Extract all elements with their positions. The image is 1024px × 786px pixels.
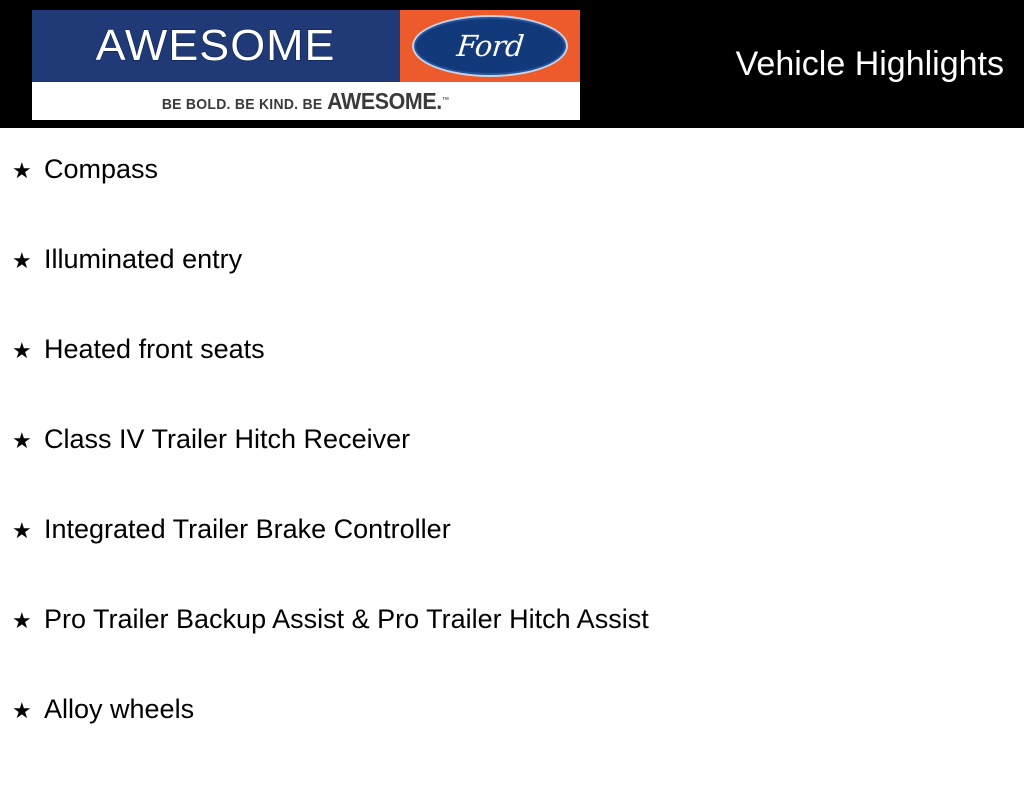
trademark-icon: ™	[442, 95, 450, 104]
star-icon: ★	[12, 340, 44, 362]
logo-top-band: AWESOME Ford	[32, 10, 580, 82]
star-icon: ★	[12, 250, 44, 272]
list-item-label: Compass	[44, 156, 158, 183]
list-item: ★ Pro Trailer Backup Assist & Pro Traile…	[0, 606, 1024, 696]
list-item-label: Integrated Trailer Brake Controller	[44, 516, 451, 543]
star-icon: ★	[12, 700, 44, 722]
logo-tagline-band: BE BOLD. BE KIND. BE AWESOME.™	[32, 82, 580, 120]
ford-oval-text: Ford	[455, 32, 524, 61]
vehicle-highlights-list: ★ Compass ★ Illuminated entry ★ Heated f…	[0, 128, 1024, 768]
list-item: ★ Heated front seats	[0, 336, 1024, 426]
list-item-label: Class IV Trailer Hitch Receiver	[44, 426, 410, 453]
star-icon: ★	[12, 430, 44, 452]
list-item: ★ Integrated Trailer Brake Controller	[0, 516, 1024, 606]
list-item: ★ Compass	[0, 156, 1024, 246]
page-title: Vehicle Highlights	[736, 0, 1004, 128]
logo-brand-panel: AWESOME	[32, 10, 400, 82]
tagline-lead-text: BE BOLD. BE KIND. BE	[162, 96, 323, 113]
tagline-brand-text: AWESOME.	[327, 88, 442, 114]
page-header: AWESOME Ford BE BOLD. BE KIND. BE AWESOM…	[0, 0, 1024, 128]
star-icon: ★	[12, 520, 44, 542]
list-item-label: Heated front seats	[44, 336, 265, 363]
star-icon: ★	[12, 160, 44, 182]
dealer-logo: AWESOME Ford BE BOLD. BE KIND. BE AWESOM…	[32, 10, 580, 120]
list-item: ★ Illuminated entry	[0, 246, 1024, 336]
list-item: ★ Alloy wheels	[0, 696, 1024, 786]
star-icon: ★	[12, 610, 44, 632]
list-item-label: Illuminated entry	[44, 246, 242, 273]
list-item: ★ Class IV Trailer Hitch Receiver	[0, 426, 1024, 516]
list-item-label: Pro Trailer Backup Assist & Pro Trailer …	[44, 606, 649, 633]
logo-tagline: BE BOLD. BE KIND. BE AWESOME.™	[162, 88, 450, 115]
logo-ford-panel: Ford	[400, 10, 580, 82]
list-item-label: Alloy wheels	[44, 696, 194, 723]
ford-oval-icon: Ford	[412, 15, 568, 77]
logo-brand-text: AWESOME	[96, 24, 336, 68]
